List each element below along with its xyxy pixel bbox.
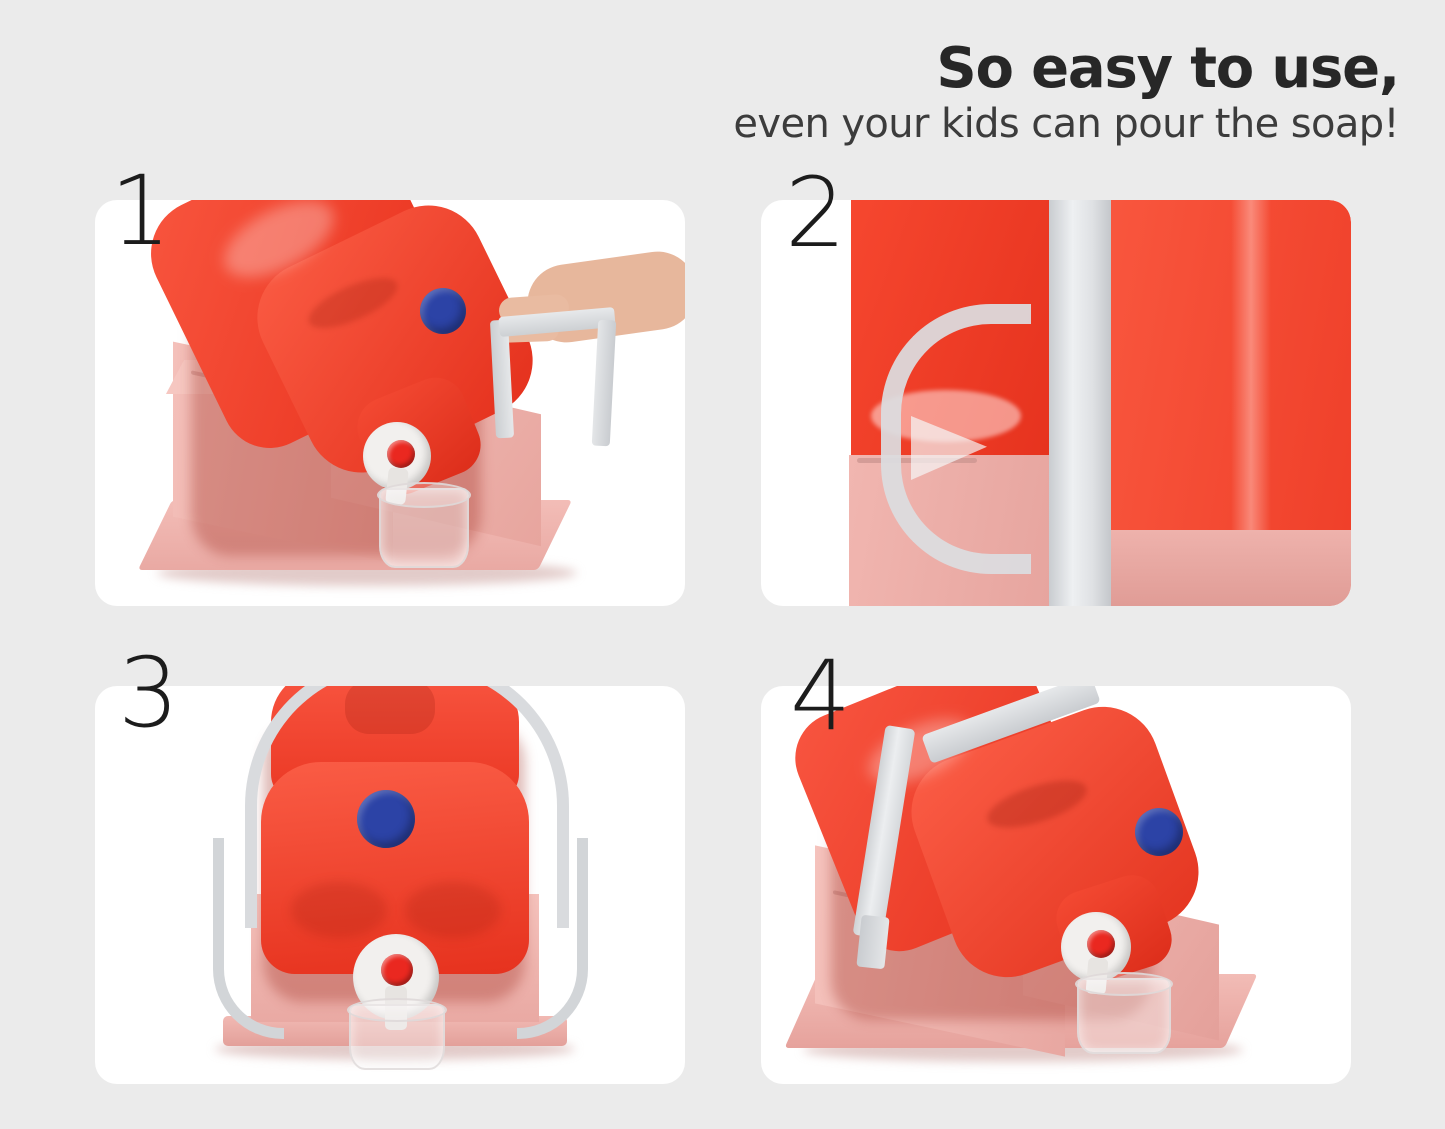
step-card-1 bbox=[95, 200, 685, 606]
spigot-button-icon bbox=[387, 440, 415, 468]
headline-block: So easy to use, even your kids can pour … bbox=[539, 40, 1399, 148]
step-1-illustration bbox=[95, 200, 685, 606]
steps-grid bbox=[95, 200, 1351, 1084]
strap-left-side bbox=[213, 838, 284, 1039]
spigot-button-icon-4 bbox=[1087, 930, 1115, 958]
measuring-cup-rim-front bbox=[347, 998, 447, 1022]
spigot-button-icon-front bbox=[381, 954, 413, 986]
blue-cap-icon bbox=[420, 288, 466, 334]
step-card-2 bbox=[761, 200, 1351, 606]
infographic-page: So easy to use, even your kids can pour … bbox=[0, 0, 1445, 1129]
step-number-2: 2 bbox=[785, 165, 846, 261]
step-card-3 bbox=[95, 686, 685, 1084]
headline-primary: So easy to use, bbox=[539, 40, 1399, 97]
measuring-cup-rim-4 bbox=[1075, 972, 1173, 996]
strap-tail-4 bbox=[856, 915, 889, 970]
step-2-illustration bbox=[761, 200, 1351, 606]
blue-cap-icon-4 bbox=[1135, 808, 1183, 856]
strap-vertical-ribbon bbox=[1049, 200, 1111, 606]
strap-right-side bbox=[517, 838, 588, 1039]
measuring-cup-rim bbox=[377, 482, 471, 508]
step-number-1: 1 bbox=[110, 163, 171, 259]
step-number-3: 3 bbox=[118, 645, 179, 741]
headline-secondary: even your kids can pour the soap! bbox=[539, 101, 1399, 148]
step-3-illustration bbox=[95, 686, 685, 1084]
step-number-4: 4 bbox=[790, 648, 851, 744]
